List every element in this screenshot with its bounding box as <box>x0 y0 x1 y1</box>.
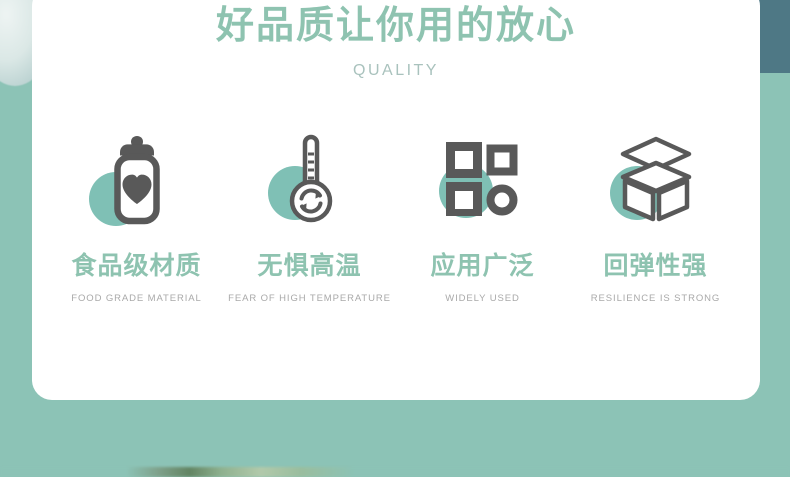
card-header: 好品质让你用的放心 QUALITY <box>32 0 760 84</box>
thermometer-recycle-icon <box>283 131 337 227</box>
grid-shapes-icon <box>446 142 520 216</box>
feature-label-en: FEAR OF HIGH TEMPERATURE <box>228 291 391 307</box>
feature-label-en: FOOD GRADE MATERIAL <box>71 291 201 307</box>
feature-label-en: WIDELY USED <box>445 291 519 307</box>
feature-item-high-temperature: 无惧高温 FEAR OF HIGH TEMPERATURE <box>223 126 396 307</box>
feature-item-widely-used: 应用广泛 WIDELY USED <box>396 126 569 307</box>
jar-with-heart-icon <box>106 132 168 226</box>
page-title: 好品质让你用的放心 <box>32 0 760 52</box>
icon-container <box>423 126 543 232</box>
quality-card: 好品质让你用的放心 QUALITY 食品级材质 FOOD GRADE MA <box>32 0 760 400</box>
feature-label-cn: 应用广泛 <box>430 248 534 284</box>
icon-container <box>77 126 197 232</box>
feature-list: 食品级材质 FOOD GRADE MATERIAL <box>50 126 742 307</box>
bottom-photo-strip <box>0 467 790 477</box>
page-subtitle: QUALITY <box>32 58 760 84</box>
icon-container <box>250 126 370 232</box>
feature-label-cn: 食品级材质 <box>71 248 201 284</box>
icon-container <box>596 126 716 232</box>
feature-item-resilience: 回弹性强 RESILIENCE IS STRONG <box>569 126 742 307</box>
feature-item-food-grade: 食品级材质 FOOD GRADE MATERIAL <box>50 126 223 307</box>
bouncing-cube-icon <box>616 135 696 223</box>
feature-label-cn: 回弹性强 <box>603 248 707 284</box>
feature-label-cn: 无惧高温 <box>257 248 361 284</box>
feature-label-en: RESILIENCE IS STRONG <box>591 291 720 307</box>
